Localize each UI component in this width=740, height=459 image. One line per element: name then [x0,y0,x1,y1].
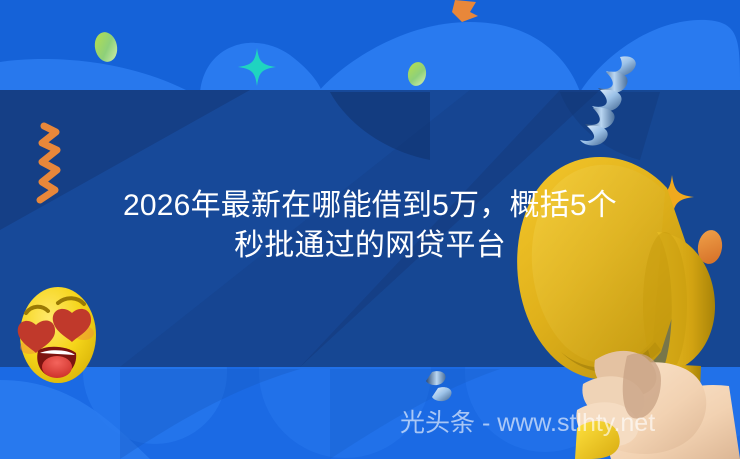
heart-eyes-emoji-icon [14,283,102,387]
title-line-1: 2026年最新在哪能借到5万，概括5个 [0,186,740,226]
background-band-top [0,0,740,90]
promo-banner: 2026年最新在哪能借到5万，概括5个 秒批通过的网贷平台 光头条 - www.… [0,0,740,459]
site-watermark: 光头条 - www.stlhty.net [400,408,655,438]
title-line-2: 秒批通过的网贷平台 [0,226,740,266]
banner-title: 2026年最新在哪能借到5万，概括5个 秒批通过的网贷平台 [0,186,740,266]
megaphone-hand [575,351,740,459]
